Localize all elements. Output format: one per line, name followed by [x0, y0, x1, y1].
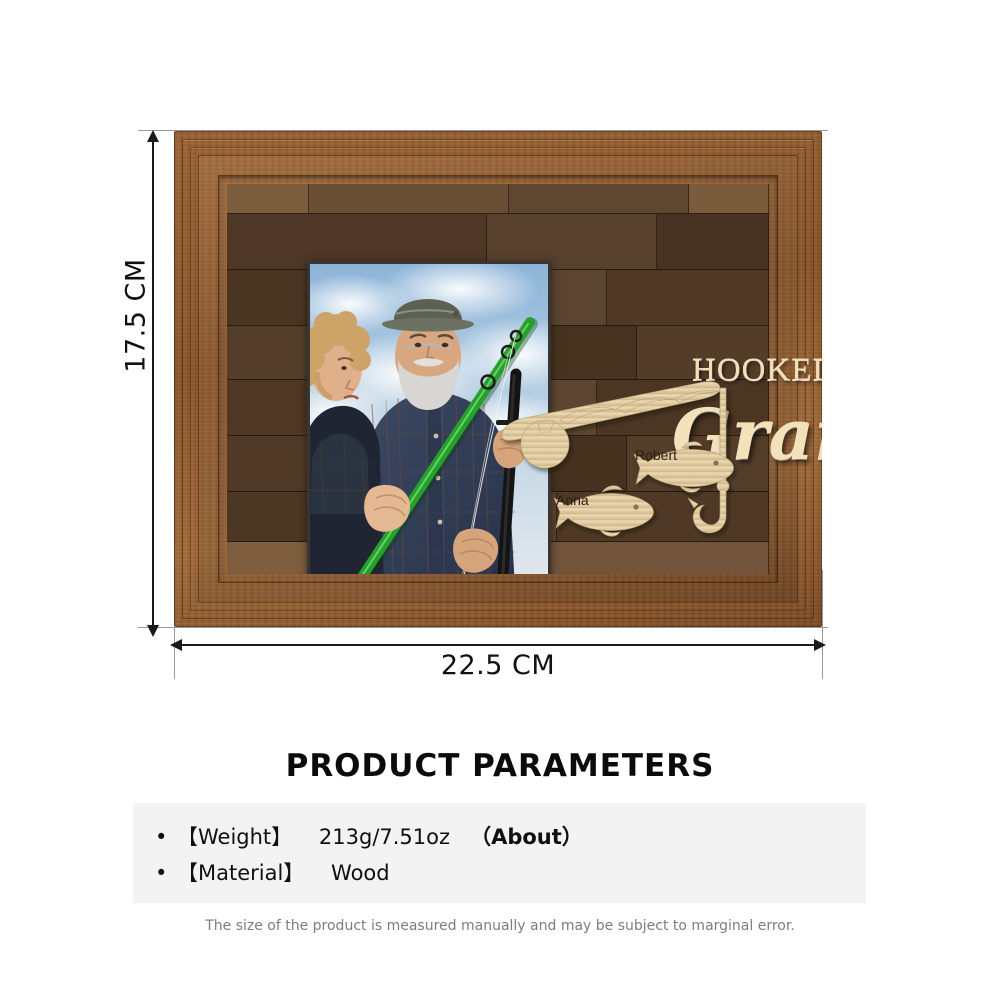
wood-plank: [509, 184, 689, 213]
family-photo: [307, 261, 551, 574]
parameter-row-weight: 【Weight】 213g/7.51oz （About）: [177, 819, 866, 855]
product-parameters-list: 【Weight】 213g/7.51oz （About） 【Material】 …: [133, 803, 866, 891]
wood-plank: [607, 270, 769, 325]
parameter-row-material: 【Material】 Wood: [177, 855, 866, 891]
product-parameters-title: PRODUCT PARAMETERS: [0, 748, 1000, 784]
wood-plank: [227, 184, 309, 213]
height-dimension-arrow: [152, 140, 154, 627]
guide-line-bottom: [138, 627, 828, 628]
wood-plank: [527, 542, 769, 574]
parameter-value: Wood: [331, 861, 390, 885]
parameter-key: 【Material】: [177, 861, 304, 885]
script-wood-text: Grandpa: [672, 393, 822, 476]
parameter-note: （About）: [470, 825, 583, 849]
parameter-value: 213g/7.51oz: [319, 825, 450, 849]
fish-name-robert: Robert: [635, 447, 677, 463]
wood-slat-row: [227, 184, 769, 214]
wood-plank: [657, 214, 769, 269]
wood-plank: [309, 184, 509, 213]
wood-slat-panel: [227, 184, 769, 574]
guide-line-right: [822, 570, 823, 679]
picture-frame: HOOKED ON Grandpa: [174, 131, 822, 627]
headline-wood-text: HOOKED ON: [692, 352, 822, 389]
width-dimension-label: 22.5 CM: [174, 650, 822, 681]
product-parameters-panel: 【Weight】 213g/7.51oz （About） 【Material】 …: [133, 803, 866, 903]
width-dimension-arrow: [180, 644, 816, 646]
wood-plank: [689, 184, 769, 213]
measurement-disclaimer: The size of the product is measured manu…: [0, 918, 1000, 934]
photo-artwork: [310, 264, 548, 574]
parameter-key: 【Weight】: [177, 825, 292, 849]
height-dimension-label: 17.5 CM: [121, 241, 152, 391]
fish-name-anna: Anna: [556, 492, 589, 508]
